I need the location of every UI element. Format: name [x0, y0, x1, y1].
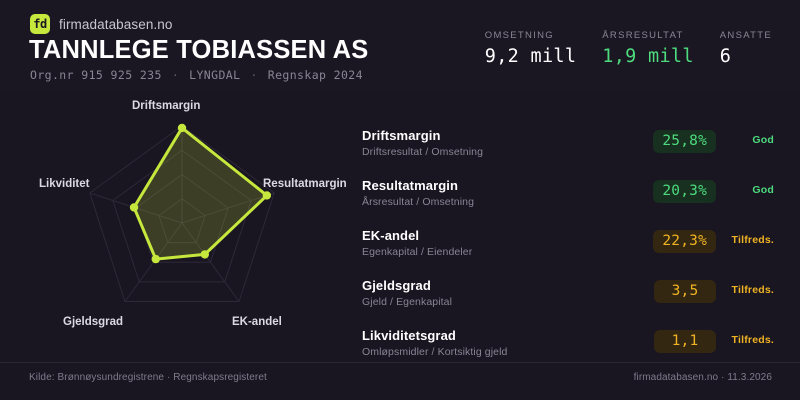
status-badge: God	[752, 134, 774, 146]
meta-orgnr: Org.nr 915 925 235	[30, 68, 162, 82]
status-badge: God	[752, 184, 774, 196]
brand-name: firmadatabasen.no	[59, 17, 173, 32]
radar-series-area	[134, 128, 267, 259]
metric-name: Likviditetsgrad	[362, 328, 456, 343]
kpi-omsetning-value: 9,2 mill	[485, 46, 577, 67]
company-meta: Org.nr 915 925 235 · LYNGDAL · Regnskap …	[30, 68, 363, 82]
kpi-omsetning: OMSETNING 9,2 mill	[485, 30, 577, 67]
kpi-ansatte-label: ANSATTE	[720, 30, 772, 41]
metric-formula: Driftsresultat / Omsetning	[362, 146, 483, 158]
radar-axis-label-gjeldsgrad: Gjeldsgrad	[63, 316, 123, 328]
metric-value-chip: 25,8%	[653, 130, 716, 153]
radar-chart-svg	[0, 90, 360, 360]
status-badge: Tilfreds.	[732, 284, 774, 296]
card-header: fd firmadatabasen.no TANNLEGE TOBIASSEN …	[0, 0, 800, 90]
metric-row-gjeldsgrad[interactable]: Gjeldsgrad Gjeld / Egenkapital 3,5 Tilfr…	[362, 278, 782, 319]
metric-name: Resultatmargin	[362, 178, 458, 193]
kpi-arsresultat-value: 1,9 mill	[602, 46, 694, 67]
meta-separator-1: ·	[172, 68, 179, 82]
metric-name: Gjeldsgrad	[362, 278, 431, 293]
kpi-arsresultat: ÅRSRESULTAT 1,9 mill	[602, 30, 694, 67]
kpi-stats: OMSETNING 9,2 mill ÅRSRESULTAT 1,9 mill …	[485, 30, 772, 67]
status-badge: Tilfreds.	[732, 334, 774, 346]
page-title: TANNLEGE TOBIASSEN AS	[29, 36, 369, 65]
radar-axis-label-resultatmargin: Resultatmargin	[263, 178, 347, 190]
kpi-omsetning-label: OMSETNING	[485, 30, 577, 41]
metric-name: Driftsmargin	[362, 128, 441, 143]
metric-formula: Gjeld / Egenkapital	[362, 296, 452, 308]
metric-name: EK-andel	[362, 228, 419, 243]
metric-value-chip: 22,3%	[653, 230, 716, 253]
footer-source: Kilde: Brønnøysundregistrene · Regnskaps…	[29, 372, 267, 383]
metric-row-ek-andel[interactable]: EK-andel Egenkapital / Eiendeler 22,3% T…	[362, 228, 782, 269]
brand[interactable]: fd firmadatabasen.no	[30, 14, 173, 34]
metric-formula: Årsresultat / Omsetning	[362, 196, 474, 208]
radar-chart: Driftsmargin Resultatmargin EK-andel Gje…	[0, 90, 360, 360]
meta-location: LYNGDAL	[189, 68, 240, 82]
metric-row-resultatmargin[interactable]: Resultatmargin Årsresultat / Omsetning 2…	[362, 178, 782, 219]
metric-value-chip: 20,3%	[653, 180, 716, 203]
status-badge: Tilfreds.	[732, 234, 774, 246]
kpi-ansatte: ANSATTE 6	[720, 30, 772, 67]
metric-value-chip: 3,5	[654, 280, 716, 303]
meta-period: Regnskap 2024	[268, 68, 363, 82]
metric-formula: Egenkapital / Eiendeler	[362, 246, 472, 258]
metric-row-driftsmargin[interactable]: Driftsmargin Driftsresultat / Omsetning …	[362, 128, 782, 169]
radar-axis-label-driftsmargin: Driftsmargin	[132, 100, 200, 112]
radar-axis-label-likviditet: Likviditet	[39, 178, 89, 190]
footer-attribution: firmadatabasen.no · 11.3.2026	[634, 372, 772, 383]
metric-formula: Omløpsmidler / Kortsiktig gjeld	[362, 346, 507, 358]
company-financial-card: fd firmadatabasen.no TANNLEGE TOBIASSEN …	[0, 0, 800, 400]
kpi-ansatte-value: 6	[720, 46, 772, 67]
radar-axis-label-ek-andel: EK-andel	[232, 316, 282, 328]
footer-divider	[0, 362, 800, 363]
kpi-arsresultat-label: ÅRSRESULTAT	[602, 30, 694, 41]
fd-logo-icon: fd	[30, 14, 50, 34]
metrics-list: Driftsmargin Driftsresultat / Omsetning …	[362, 128, 782, 378]
meta-separator-2: ·	[250, 68, 257, 82]
metric-value-chip: 1,1	[654, 330, 716, 353]
